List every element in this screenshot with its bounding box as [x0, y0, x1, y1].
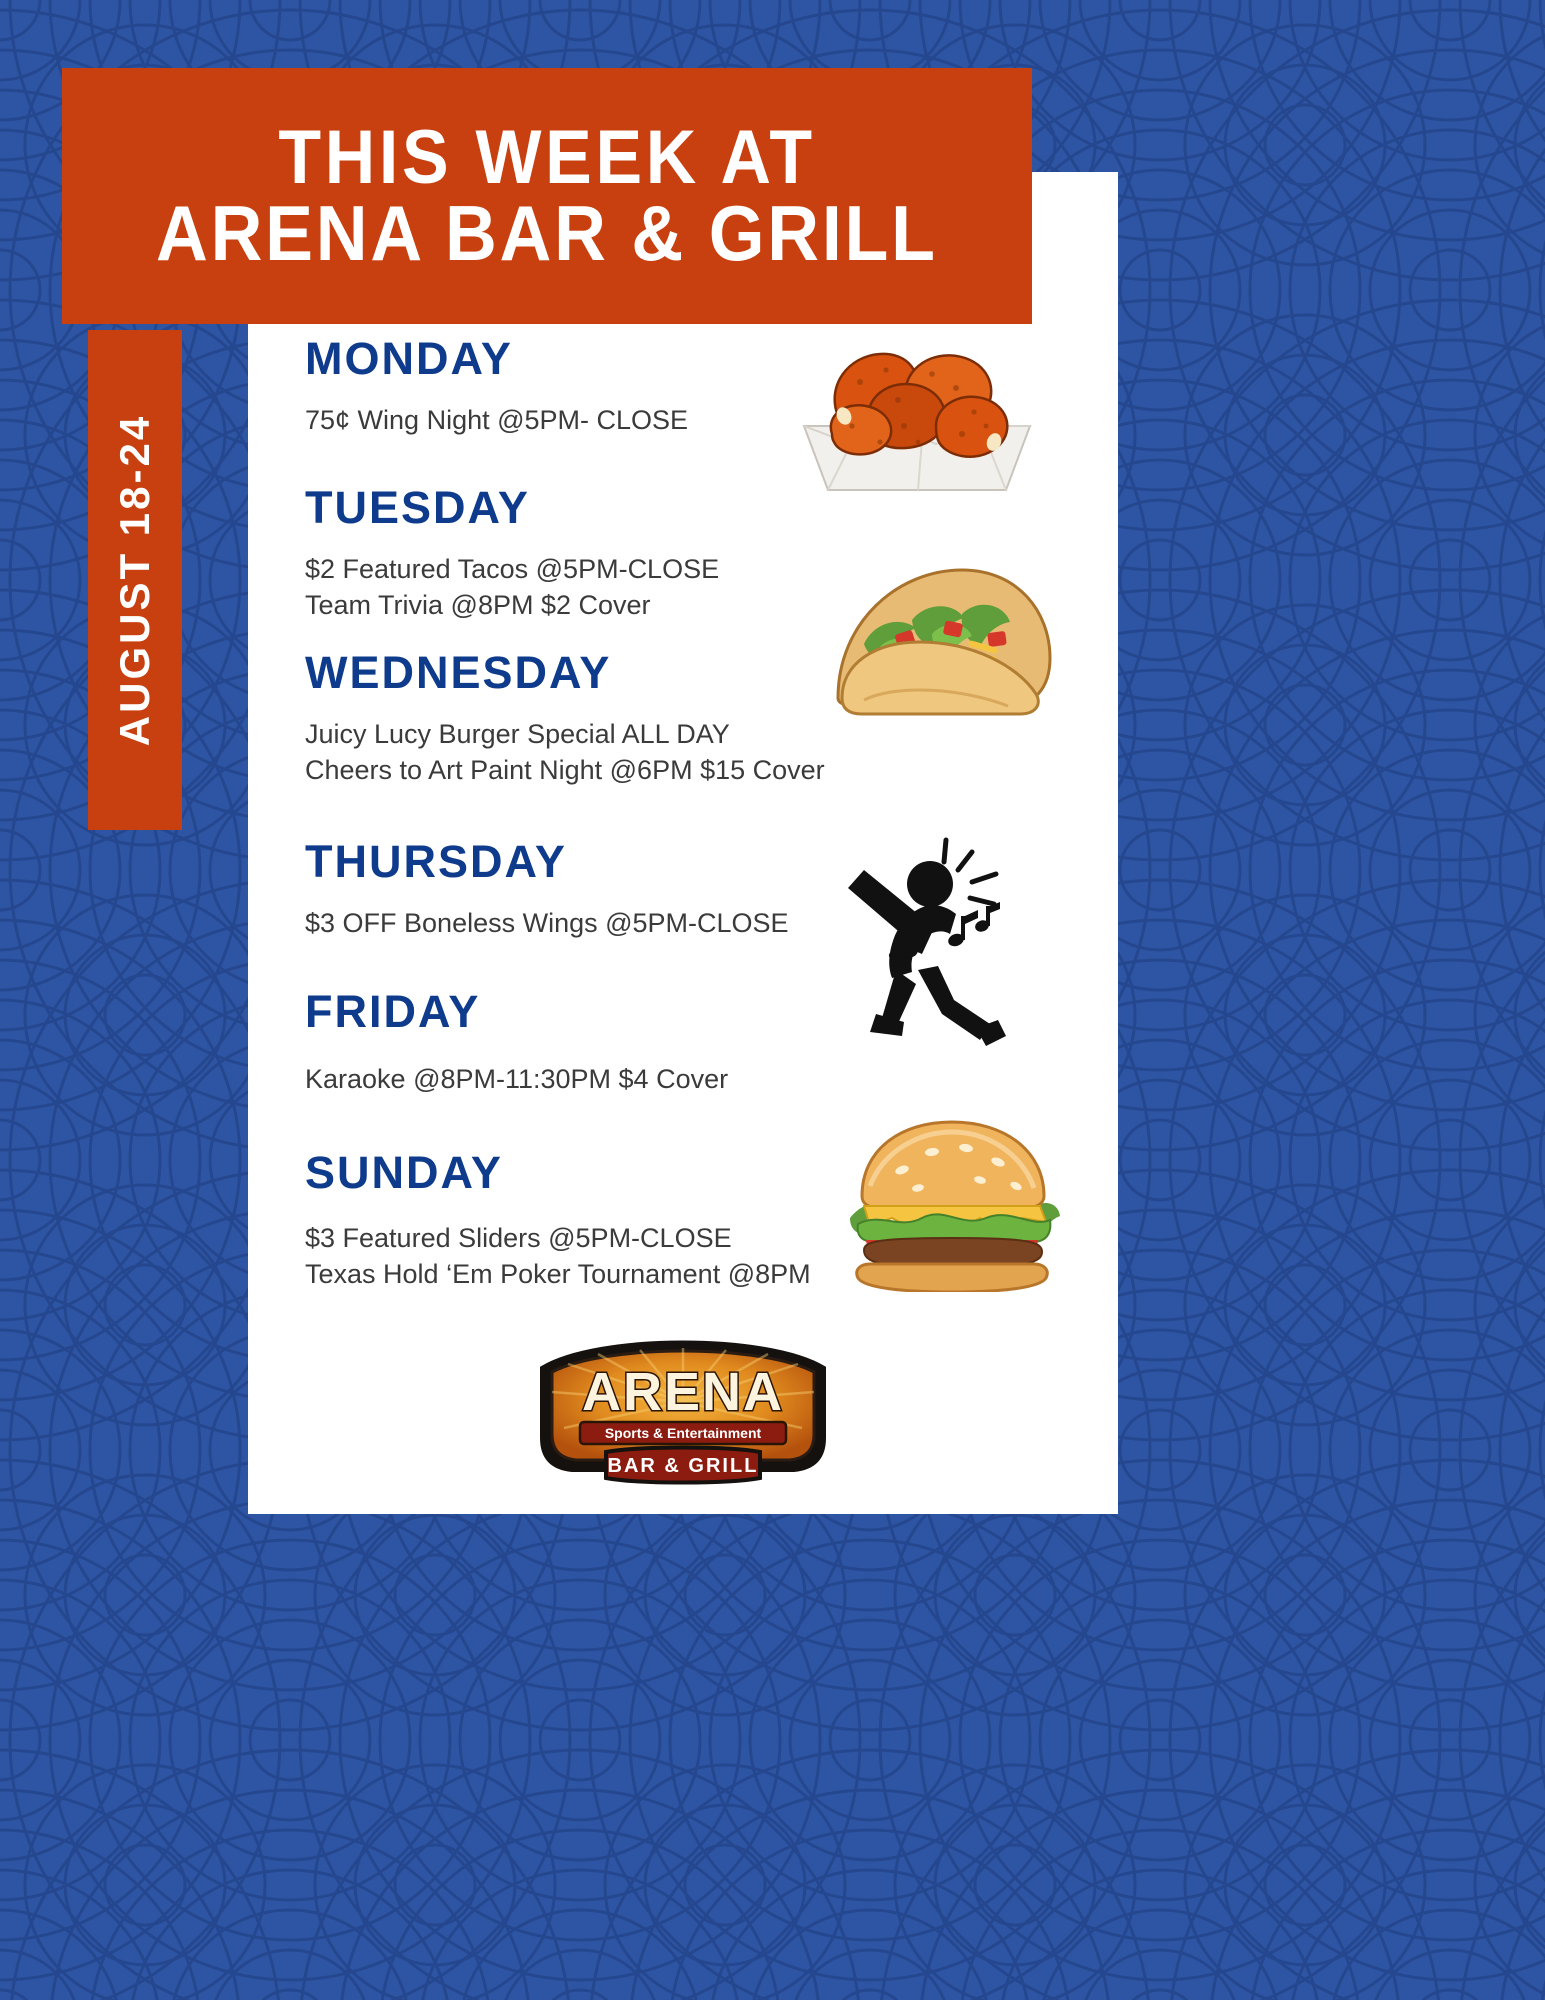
date-range-tab: AUGUST 18-24 — [88, 330, 182, 830]
arena-bar-and-grill-logo: ARENA Sports & Entertainment BAR & GRILL — [528, 1318, 838, 1500]
schedule-entry-monday: MONDAY 75¢ Wing Night @5PM- CLOSE — [305, 336, 865, 439]
date-range-label: AUGUST 18-24 — [111, 414, 159, 746]
day-detail-line: Texas Hold ‘Em Poker Tournament @8PM — [305, 1257, 865, 1293]
day-detail-line: Karaoke @8PM-11:30PM $4 Cover — [305, 1062, 865, 1098]
day-heading: WEDNESDAY — [305, 650, 865, 695]
schedule-entry-thursday: THURSDAY $3 OFF Boneless Wings @5PM-CLOS… — [305, 839, 865, 942]
chicken-wings-basket-illustration — [786, 330, 1048, 498]
schedule-entry-friday: FRIDAY Karaoke @8PM-11:30PM $4 Cover — [305, 989, 865, 1098]
day-detail-line: $3 Featured Sliders @5PM-CLOSE — [305, 1221, 865, 1257]
schedule-entry-tuesday: TUESDAY $2 Featured Tacos @5PM-CLOSE Tea… — [305, 485, 865, 624]
burger-illustration — [840, 1110, 1062, 1292]
schedule-entry-wednesday: WEDNESDAY Juicy Lucy Burger Special ALL … — [305, 650, 865, 789]
logo-tagline-text: Sports & Entertainment — [605, 1425, 762, 1441]
day-heading: THURSDAY — [305, 839, 865, 884]
day-heading: FRIDAY — [305, 989, 865, 1034]
day-heading: MONDAY — [305, 336, 865, 381]
weekly-schedule-list: MONDAY 75¢ Wing Night @5PM- CLOSE TUESDA… — [305, 336, 865, 1293]
day-detail-line: Cheers to Art Paint Night @6PM $15 Cover — [305, 753, 865, 789]
schedule-entry-sunday: SUNDAY $3 Featured Sliders @5PM-CLOSE Te… — [305, 1150, 865, 1293]
karaoke-singer-illustration — [830, 818, 1010, 1058]
day-detail-line: Team Trivia @8PM $2 Cover — [305, 588, 865, 624]
day-heading: TUESDAY — [305, 485, 865, 530]
logo-brand-text: ARENA — [582, 1362, 784, 1422]
day-detail-line: Juicy Lucy Burger Special ALL DAY — [305, 717, 865, 753]
header-title-line-2: ARENA BAR & GRILL — [156, 195, 938, 271]
logo-subtitle-text: BAR & GRILL — [608, 1455, 759, 1477]
day-detail-line: $3 OFF Boneless Wings @5PM-CLOSE — [305, 906, 865, 942]
header-banner: THIS WEEK AT ARENA BAR & GRILL — [62, 68, 1032, 324]
day-heading: SUNDAY — [305, 1150, 865, 1195]
header-title-line-1: THIS WEEK AT — [278, 121, 815, 195]
day-detail-line: 75¢ Wing Night @5PM- CLOSE — [305, 403, 865, 439]
day-detail-line: $2 Featured Tacos @5PM-CLOSE — [305, 552, 865, 588]
taco-illustration — [812, 548, 1064, 738]
